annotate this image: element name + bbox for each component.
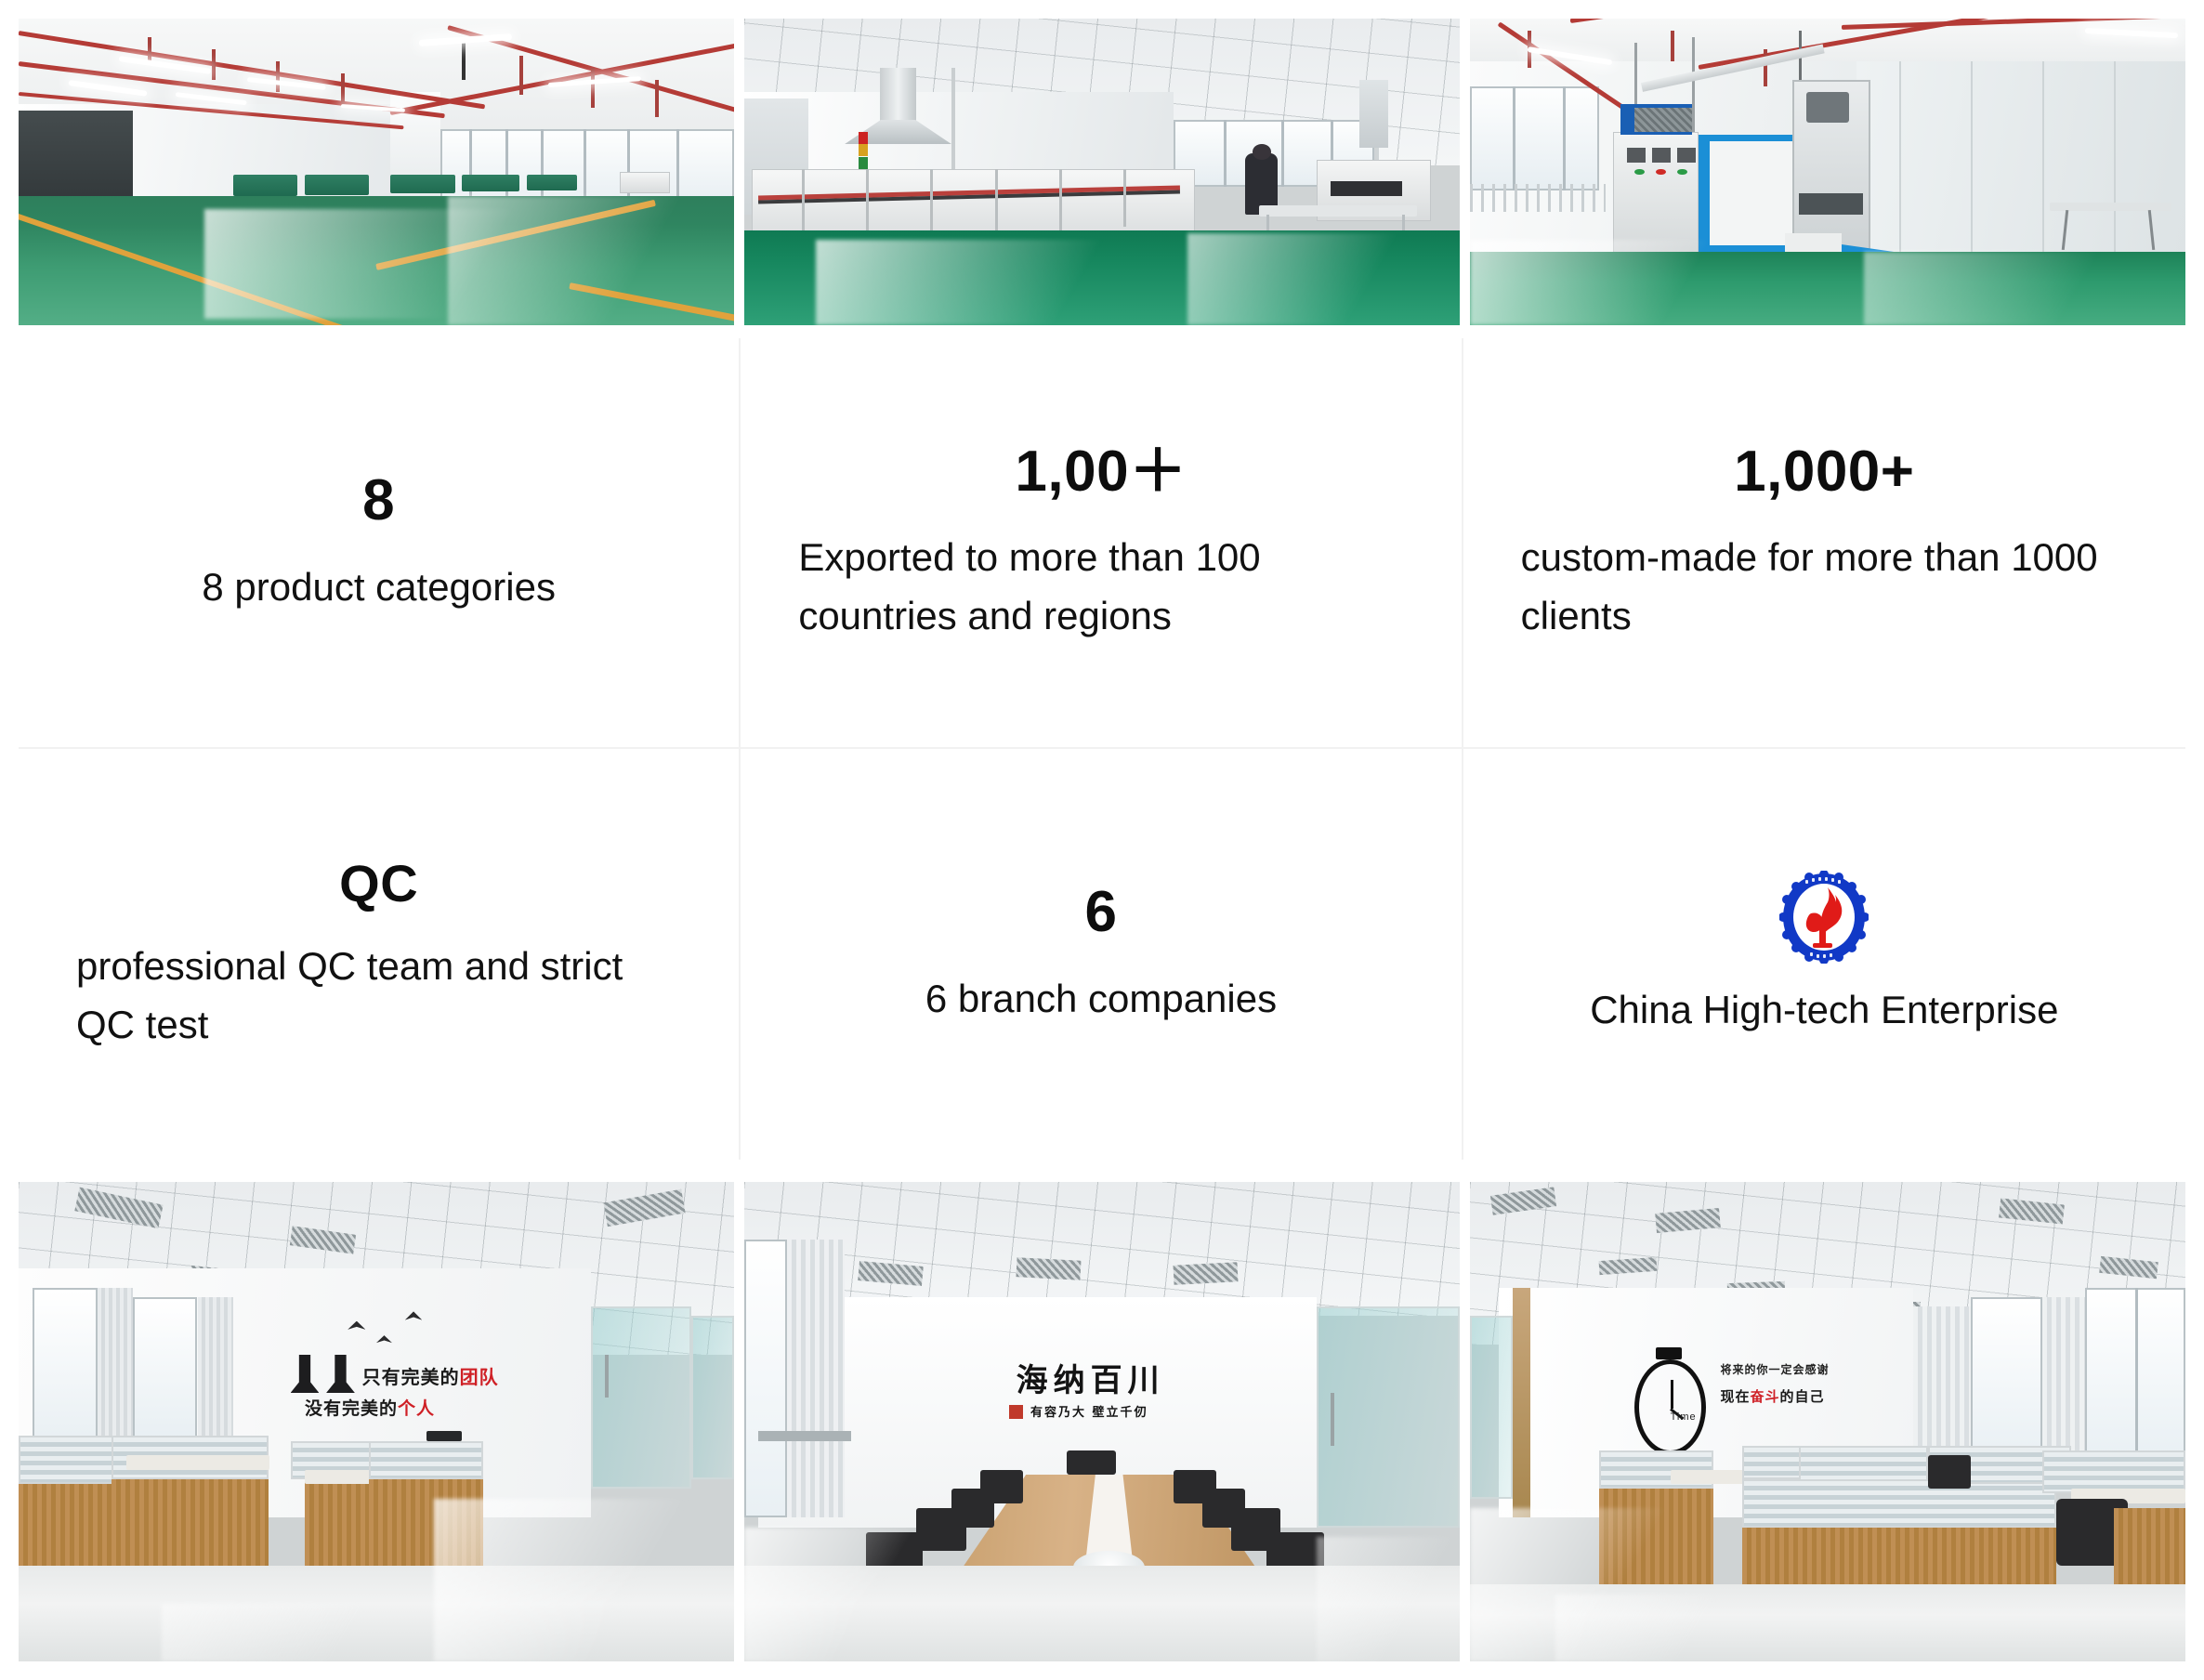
office-wall-slogan-line2: 没有完美的个人 bbox=[305, 1400, 435, 1419]
photo-open-plan-office: 只有完美的团队 没有完美的个人 bbox=[19, 1182, 734, 1661]
stat-number-quality-control: QC bbox=[76, 855, 681, 912]
office-wall-slogan-line1: 只有完美的团队 bbox=[362, 1369, 499, 1388]
stat-text-product-categories: 8 product categories bbox=[76, 558, 681, 616]
top-photo-row bbox=[19, 19, 2185, 325]
stat-number-product-categories: 8 bbox=[76, 469, 681, 532]
stat-number-export-countries: 1,00＋ bbox=[798, 440, 1403, 504]
stat-cell-custom-made-clients: 1,000+ custom-made for more than 1000 cl… bbox=[1463, 338, 2185, 749]
stat-cell-branch-companies: 6 6 branch companies bbox=[741, 749, 1463, 1160]
stopwatch-icon bbox=[1634, 1359, 1706, 1455]
photo-workshop-production-line bbox=[19, 19, 734, 325]
stat-number-branch-companies: 6 bbox=[798, 881, 1403, 944]
conference-calligraphy-sub: 有容乃大 壁立千仞 bbox=[1030, 1402, 1148, 1420]
staff-office-wall-slogan-line2: 现在奋斗的自己 bbox=[1721, 1390, 1825, 1405]
china-high-tech-badge-icon bbox=[1779, 871, 1869, 964]
photo-conference-room: 海纳百川 有容乃大 壁立千仞 bbox=[744, 1182, 1460, 1661]
photo-tunnel-oven-line bbox=[744, 19, 1460, 325]
conference-calligraphy-main: 海纳百川 bbox=[1017, 1355, 1165, 1400]
stat-text-custom-made-clients: custom-made for more than 1000 clients bbox=[1521, 528, 2128, 645]
stat-number-custom-made-clients: 1,000+ bbox=[1521, 440, 2128, 504]
photo-vertical-furnace-machine bbox=[1470, 19, 2185, 325]
stats-grid: 8 8 product categories 1,00＋ Exported to… bbox=[19, 338, 2185, 1160]
stat-text-quality-control: professional QC team and strict QC test bbox=[76, 937, 681, 1054]
stat-cell-product-categories: 8 8 product categories bbox=[19, 338, 741, 749]
photo-staff-office-area: 将来的你一定会感谢 现在奋斗的自己 Time bbox=[1470, 1182, 2185, 1661]
bottom-photo-row: 只有完美的团队 没有完美的个人 bbox=[19, 1182, 2185, 1661]
company-overview-page: 8 8 product categories 1,00＋ Exported to… bbox=[0, 0, 2204, 1680]
stat-text-branch-companies: 6 branch companies bbox=[798, 969, 1403, 1028]
staff-office-wall-slogan-line1: 将来的你一定会感谢 bbox=[1721, 1364, 1830, 1376]
stat-text-china-high-tech-enterprise: China High-tech Enterprise bbox=[1590, 980, 2058, 1039]
stat-cell-quality-control: QC professional QC team and strict QC te… bbox=[19, 749, 741, 1160]
stat-cell-china-high-tech-enterprise: China High-tech Enterprise bbox=[1463, 749, 2185, 1160]
stat-text-export-countries: Exported to more than 100 countries and … bbox=[798, 528, 1403, 645]
stat-cell-export-countries: 1,00＋ Exported to more than 100 countrie… bbox=[741, 338, 1463, 749]
staff-office-wall-decal-label: Time bbox=[1671, 1412, 1697, 1424]
